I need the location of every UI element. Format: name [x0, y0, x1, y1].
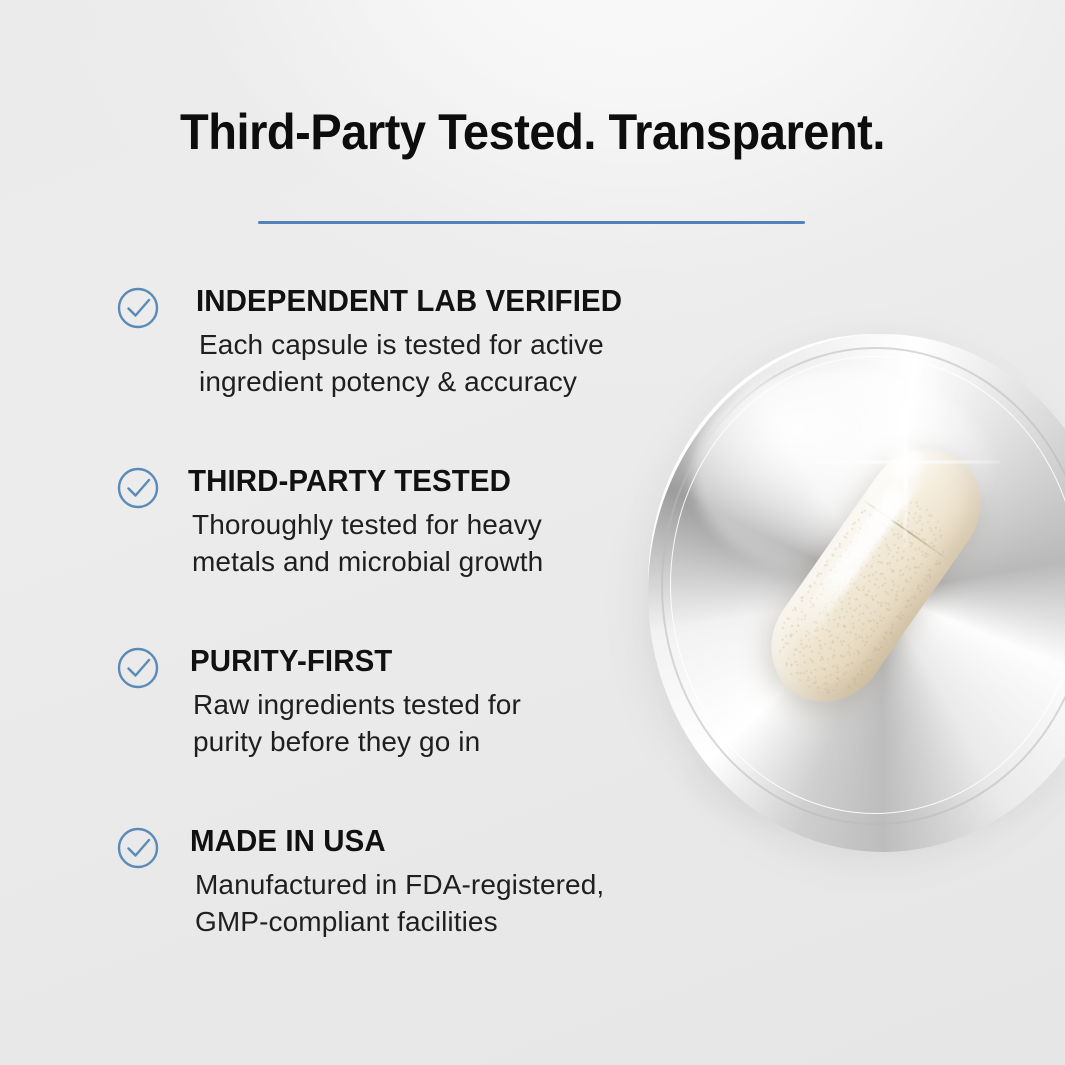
capsule-body — [748, 426, 1004, 725]
feature-title: THIRD-PARTY TESTED — [188, 464, 644, 499]
petri-dish-with-capsule — [648, 334, 1065, 844]
feature-description-line: purity before they go in — [193, 723, 663, 760]
feature-title: PURITY-FIRST — [190, 644, 646, 679]
capsule-specular-highlight — [784, 459, 928, 650]
capsule-powder-texture — [758, 477, 966, 715]
feature-description-line: ingredient potency & accuracy — [199, 363, 669, 400]
check-circle-icon — [116, 466, 160, 510]
feature-title: MADE IN USA — [190, 824, 646, 859]
feature-description: Manufactured in FDA-registered, GMP-comp… — [195, 866, 665, 940]
feature-description-line: GMP-compliant facilities — [195, 903, 665, 940]
feature-description-line: Thoroughly tested for heavy — [192, 506, 662, 543]
glass-petri-dish — [648, 334, 1065, 834]
dish-rim — [648, 334, 1065, 852]
feature-text: MADE IN USA Manufactured in FDA-register… — [190, 824, 670, 940]
sparkle-ray-horizontal — [810, 460, 1000, 464]
feature-description: Thoroughly tested for heavy metals and m… — [192, 506, 662, 580]
feature-description-line: Each capsule is tested for active — [199, 326, 669, 363]
feature-title: INDEPENDENT LAB VERIFIED — [196, 284, 652, 319]
feature-description-line: Raw ingredients tested for — [193, 686, 663, 723]
capsule-cap — [859, 426, 1004, 566]
dish-rim-inner-line — [661, 347, 1065, 825]
promo-graphic: Third-Party Tested. Transparent. INDEPEN… — [0, 0, 1065, 1065]
check-circle-icon — [116, 286, 160, 330]
check-circle-icon — [116, 646, 160, 690]
page-title: Third-Party Tested. Transparent. — [32, 106, 1033, 159]
feature-list: INDEPENDENT LAB VERIFIED Each capsule is… — [116, 284, 676, 1004]
feature-text: PURITY-FIRST Raw ingredients tested for … — [190, 644, 670, 760]
accent-divider — [258, 221, 805, 224]
list-item: INDEPENDENT LAB VERIFIED Each capsule is… — [116, 284, 676, 464]
feature-description-line: metals and microbial growth — [192, 543, 662, 580]
cream-supplement-capsule — [748, 426, 1004, 725]
list-item: MADE IN USA Manufactured in FDA-register… — [116, 824, 676, 1004]
check-circle-icon — [116, 826, 160, 870]
sparkle-core — [883, 440, 927, 484]
feature-text: INDEPENDENT LAB VERIFIED Each capsule is… — [196, 284, 676, 400]
feature-text: THIRD-PARTY TESTED Thoroughly tested for… — [188, 464, 668, 580]
dish-shadow — [684, 726, 1064, 838]
sparkle-ray-vertical — [903, 377, 908, 547]
dish-gloss-highlight — [692, 368, 992, 578]
capsule-joint-line — [862, 499, 952, 563]
dish-rim-highlight-line — [670, 356, 1065, 814]
feature-description: Raw ingredients tested for purity before… — [193, 686, 663, 760]
feature-description-line: Manufactured in FDA-registered, — [195, 866, 665, 903]
sparkle-highlight — [820, 377, 990, 547]
list-item: PURITY-FIRST Raw ingredients tested for … — [116, 644, 676, 824]
list-item: THIRD-PARTY TESTED Thoroughly tested for… — [116, 464, 676, 644]
feature-description: Each capsule is tested for active ingred… — [199, 326, 669, 400]
